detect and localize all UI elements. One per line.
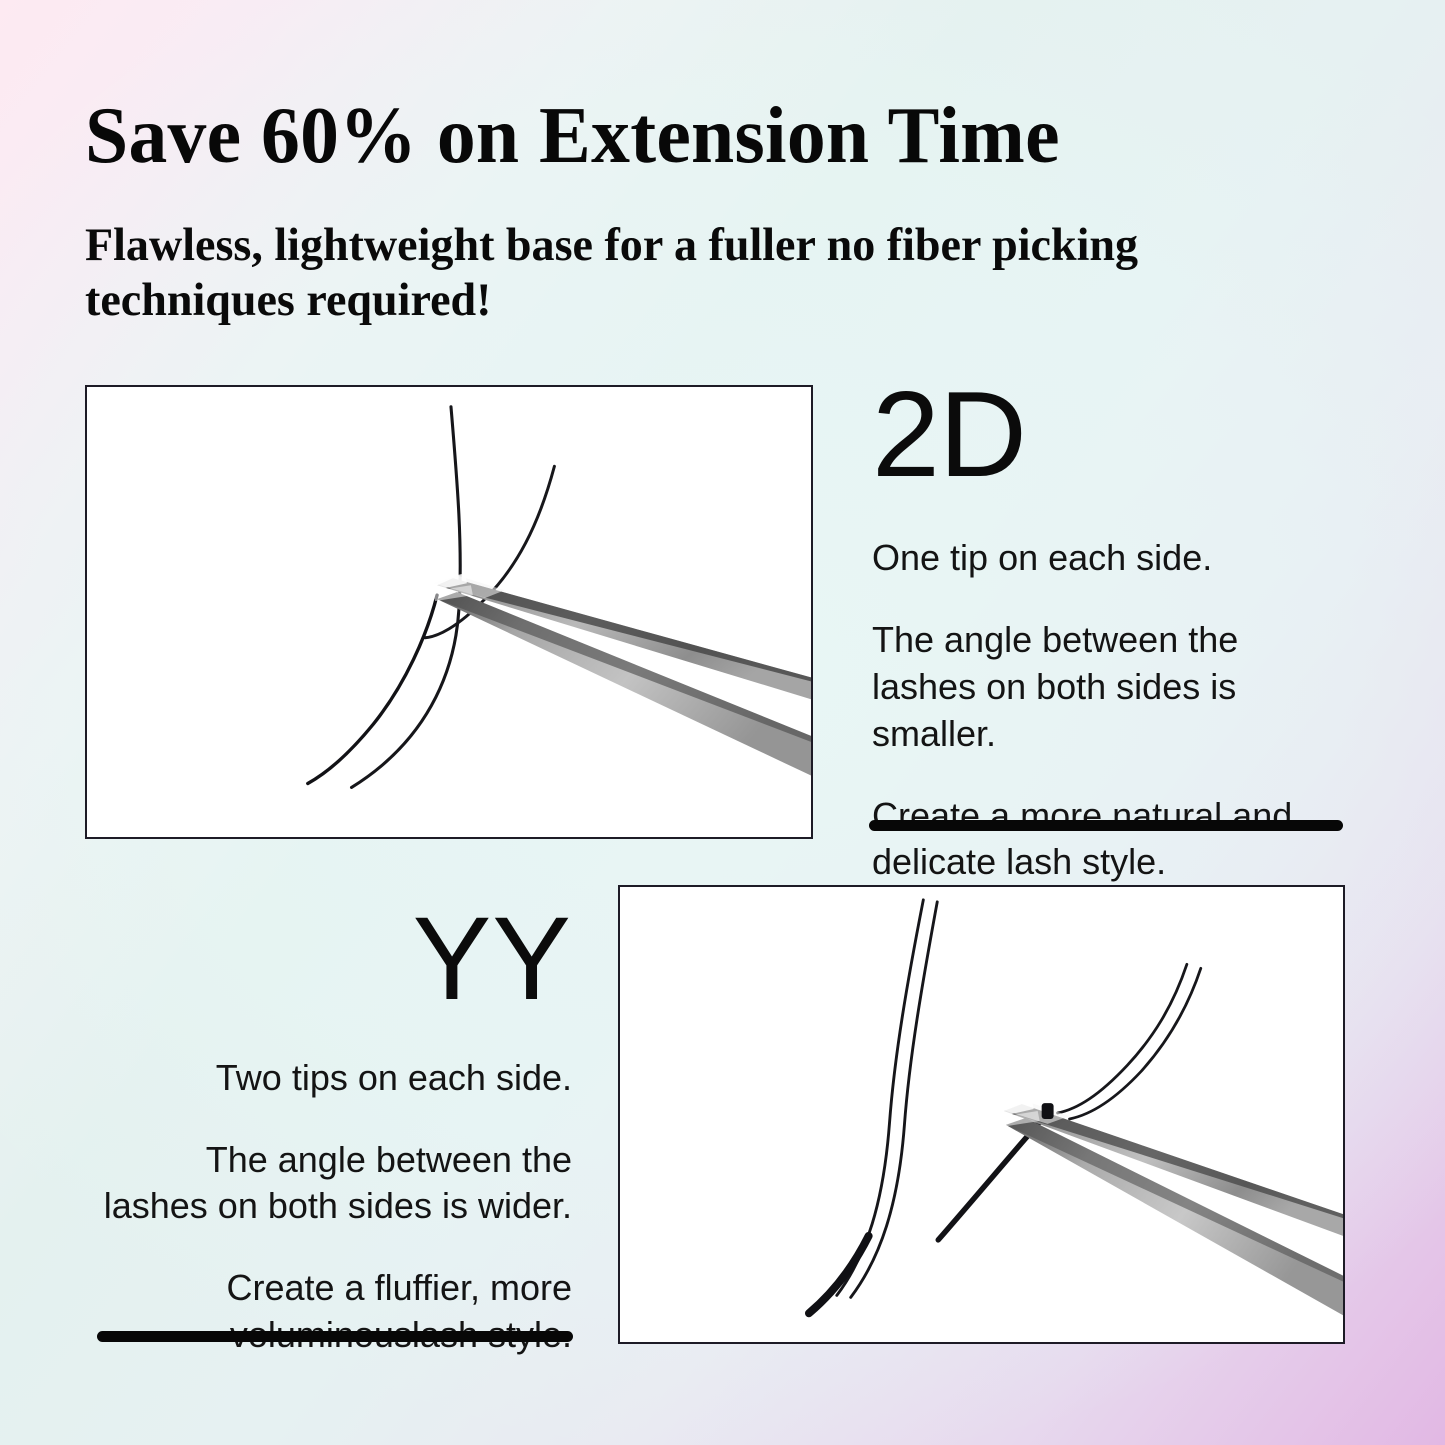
lash-fan-2d-illustration [87, 387, 811, 837]
section-2d-point-1: One tip on each side. [872, 491, 1350, 582]
info-block-2d: 2D One tip on each side. The angle betwe… [872, 378, 1350, 886]
info-block-yy: YY Two tips on each side. The angle betw… [92, 905, 572, 1359]
divider-bar-2d [869, 820, 1343, 831]
divider-bar-yy [97, 1331, 573, 1342]
header-block: Save 60% on Extension Time Flawless, lig… [85, 96, 1355, 329]
section-yy-point-1: Two tips on each side. [92, 1015, 572, 1102]
section-2d-point-2: The angle between the lashes on both sid… [872, 582, 1350, 757]
photo-panel-2d [85, 385, 813, 839]
photo-panel-yy [618, 885, 1345, 1344]
section-yy-point-2: The angle between the lashes on both sid… [92, 1102, 572, 1231]
page-title: Save 60% on Extension Time [85, 96, 1317, 176]
poster-canvas: Save 60% on Extension Time Flawless, lig… [0, 0, 1445, 1445]
section-label-yy: YY [92, 905, 572, 1015]
section-label-2d: 2D [872, 378, 1350, 491]
lash-fan-yy-illustration [620, 887, 1343, 1342]
page-subtitle: Flawless, lightweight base for a fuller … [85, 176, 1328, 329]
